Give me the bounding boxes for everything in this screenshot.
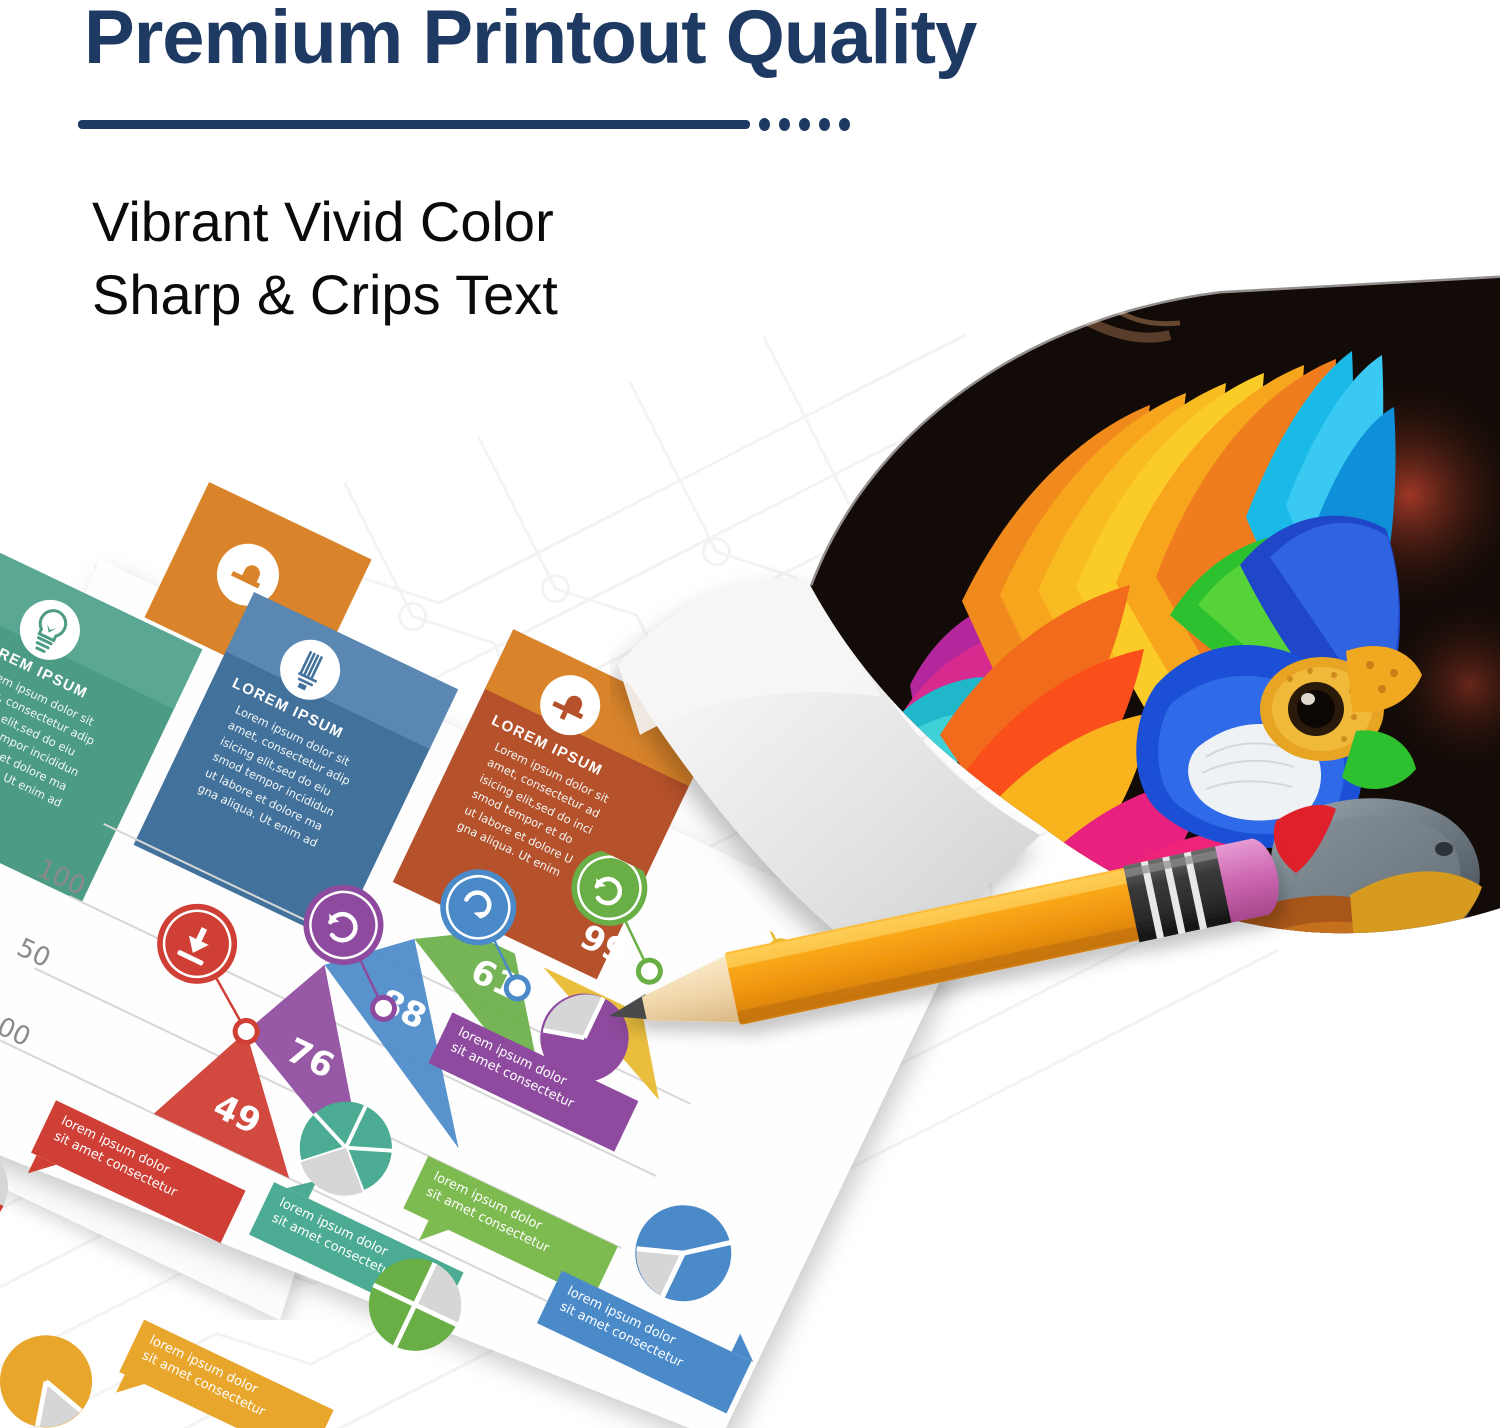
divider-dot-5 [839, 118, 850, 131]
title-divider [78, 118, 850, 131]
bubble-orange[interactable]: lorem ipsum dolor sit amet consectetur [119, 1320, 334, 1428]
pie-orange [0, 1317, 110, 1428]
divider-dot-1 [759, 118, 770, 131]
divider-dot-3 [799, 118, 810, 131]
bubble-orange-text: lorem ipsum dolor sit amet consectetur [126, 1320, 334, 1428]
poster-canvas: Premium Printout Quality Vibrant Vivid C… [0, 0, 1500, 1428]
marker-node-purple [369, 994, 398, 1023]
marker-blue [428, 857, 529, 958]
subtitle-block: Vibrant Vivid Color Sharp & Crips Text [92, 186, 558, 332]
divider-dot-2 [779, 118, 790, 131]
divider-dot-4 [819, 118, 830, 131]
marker-node-blue [503, 973, 532, 1002]
divider-bar [78, 120, 750, 129]
marker-node-red [232, 1017, 261, 1046]
subtitle-line-1: Vibrant Vivid Color [92, 186, 558, 259]
pencil-wood [637, 954, 743, 1042]
subtitle-line-2: Sharp & Crips Text [92, 259, 558, 332]
marker-red [144, 890, 251, 997]
marker-purple [290, 872, 397, 979]
page-title: Premium Printout Quality [84, 0, 976, 80]
